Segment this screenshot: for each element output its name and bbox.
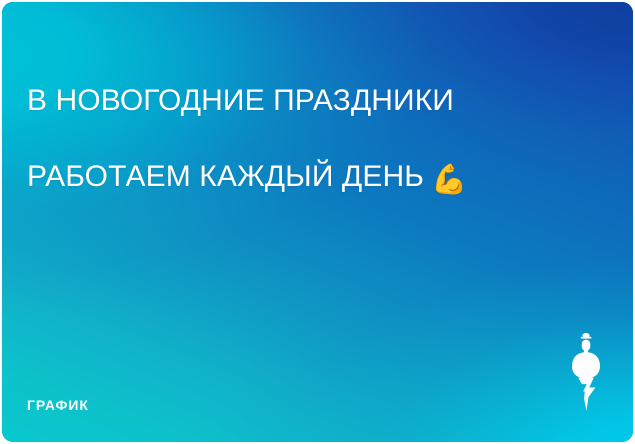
headline: В НОВОГОДНИЕ ПРАЗДНИКИ РАБОТАЕМ КАЖДЫЙ Д… xyxy=(27,44,587,234)
headline-line-2-wrapper: РАБОТАЕМ КАЖДЫЙ ДЕНЬ💪 xyxy=(27,158,587,196)
headline-line-1: В НОВОГОДНИЕ ПРАЗДНИКИ xyxy=(27,82,587,120)
promo-banner-card: В НОВОГОДНИЕ ПРАЗДНИКИ РАБОТАЕМ КАЖДЫЙ Д… xyxy=(2,2,633,442)
caption-label: ГРАФИК xyxy=(27,397,89,413)
brand-logo xyxy=(565,333,607,411)
headline-line-2: РАБОТАЕМ КАЖДЫЙ ДЕНЬ xyxy=(27,160,424,193)
flexed-biceps-icon: 💪 xyxy=(431,164,467,196)
